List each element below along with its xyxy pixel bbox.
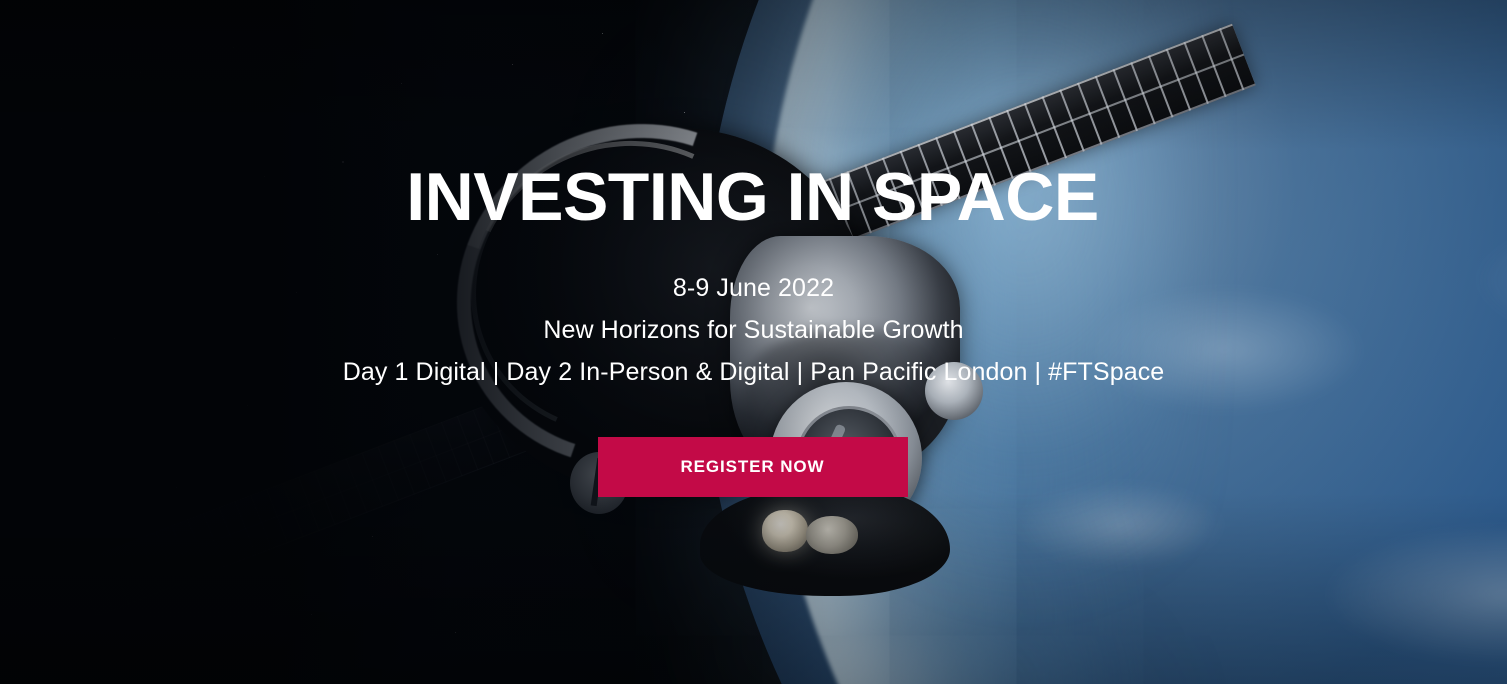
event-date: 8-9 June 2022 — [0, 272, 1507, 304]
register-now-button[interactable]: REGISTER NOW — [598, 437, 908, 497]
page-title: INVESTING IN SPACE — [0, 163, 1506, 231]
hero-content: INVESTING IN SPACE 8-9 June 2022 New Hor… — [0, 0, 1507, 684]
event-tagline: New Horizons for Sustainable Growth — [0, 314, 1507, 346]
event-hero-banner: INVESTING IN SPACE 8-9 June 2022 New Hor… — [0, 0, 1507, 684]
cta-container: REGISTER NOW — [0, 437, 1507, 497]
event-details: Day 1 Digital | Day 2 In-Person & Digita… — [0, 356, 1507, 388]
